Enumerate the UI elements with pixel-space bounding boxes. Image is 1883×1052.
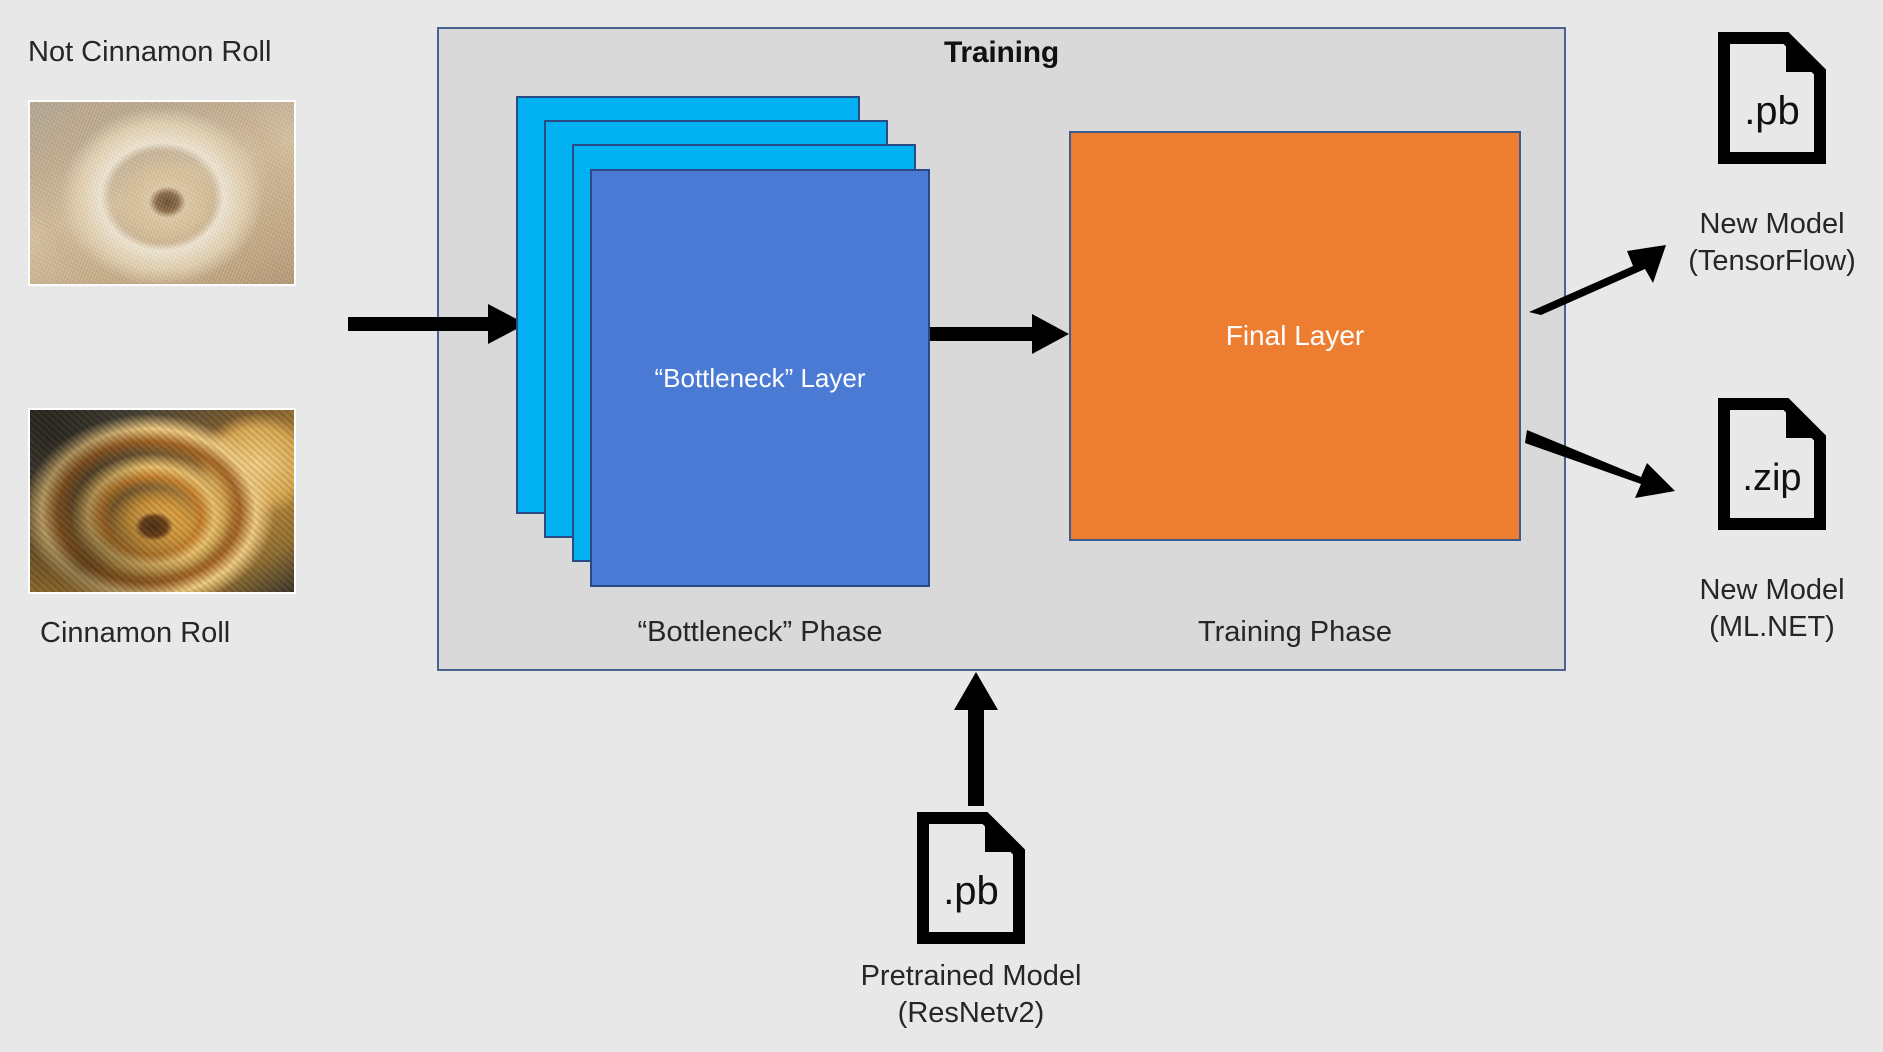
diagram-canvas: Training Not Cinnamon Roll Cinnamon Roll…: [0, 0, 1883, 1052]
file-icon-pb-tensorflow: .pb: [1718, 32, 1826, 169]
input-image-not-cinnamon-roll: [28, 100, 296, 286]
bottleneck-layer-front: “Bottleneck” Layer: [590, 169, 930, 587]
pretrained-caption: Pretrained Model (ResNetv2): [821, 958, 1121, 1032]
bottleneck-layer-label: “Bottleneck” Layer: [655, 363, 866, 394]
output-caption-line1: New Model: [1672, 206, 1872, 243]
file-icon-zip-mlnet: .zip: [1718, 398, 1826, 535]
pretrained-caption-line1: Pretrained Model: [821, 958, 1121, 995]
file-ext-label: .pb: [943, 869, 999, 913]
output-caption-mlnet: New Model (ML.NET): [1672, 572, 1872, 646]
arrow-pretrained-to-training: [950, 672, 1002, 807]
output-caption-line2: (ML.NET): [1672, 609, 1872, 646]
output-caption-line2: (TensorFlow): [1672, 243, 1872, 280]
file-ext-label: .pb: [1744, 89, 1800, 133]
final-layer-label: Final Layer: [1226, 320, 1365, 352]
phase-label-training: Training Phase: [1069, 616, 1521, 649]
phase-label-bottleneck: “Bottleneck” Phase: [590, 616, 930, 649]
final-layer-box: Final Layer: [1069, 131, 1521, 541]
input-label-cinnamon-roll: Cinnamon Roll: [40, 617, 230, 650]
input-label-not-cinnamon-roll: Not Cinnamon Roll: [28, 36, 271, 69]
file-icon-pb-pretrained: .pb: [917, 812, 1025, 949]
output-caption-tensorflow: New Model (TensorFlow): [1672, 206, 1872, 280]
training-title: Training: [437, 36, 1566, 70]
output-caption-line1: New Model: [1672, 572, 1872, 609]
input-image-cinnamon-roll: [28, 408, 296, 594]
file-ext-label: .zip: [1742, 457, 1801, 499]
pretrained-caption-line2: (ResNetv2): [821, 995, 1121, 1032]
